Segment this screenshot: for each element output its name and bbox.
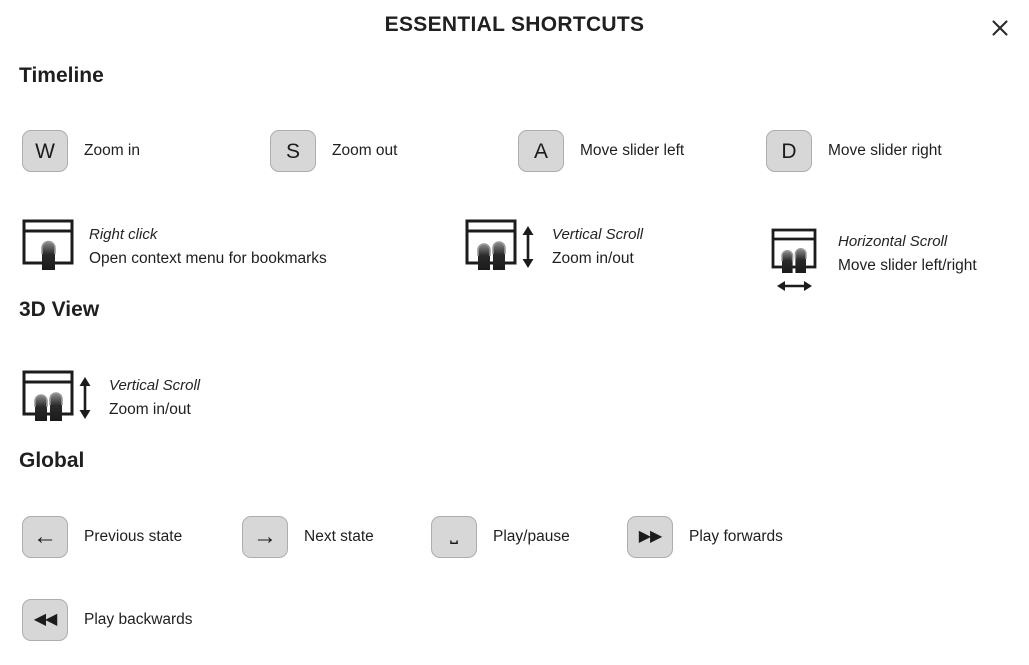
gesture-result: Open context menu for bookmarks [89,247,327,271]
key-w[interactable]: W [22,130,68,172]
space-bar-key[interactable]: ⎵ [431,516,477,558]
arrow-left-key[interactable]: ← [22,516,68,558]
key-s[interactable]: S [270,130,316,172]
gesture-labels: Vertical Scroll Zoom in/out [552,223,643,270]
arrow-right-icon: → [253,525,277,549]
gesture-row: Vertical Scroll Zoom in/out [21,369,200,427]
shortcut-label: Play forwards [689,528,783,546]
space-bar-icon: ⎵ [450,523,458,543]
gesture-labels: Right click Open context menu for bookma… [89,223,327,270]
page-title: ESSENTIAL SHORTCUTS [0,13,1029,37]
gesture-row: Right click Open context menu for bookma… [21,218,327,276]
shortcut-label: Zoom out [332,142,397,160]
gesture-action: Right click [89,223,327,246]
trackpad-vertical-scroll-icon [21,369,97,427]
close-icon[interactable] [985,13,1015,43]
gesture-action: Horizontal Scroll [838,230,977,253]
shortcut-row: → Next state [242,516,374,558]
shortcut-label: Move slider right [828,142,942,160]
gesture-action: Vertical Scroll [552,223,643,246]
arrow-right-key[interactable]: → [242,516,288,558]
trackpad-vertical-scroll-icon [464,218,540,276]
key-a[interactable]: A [518,130,564,172]
fast-forward-key[interactable]: ▶▶ [627,516,673,558]
rewind-key[interactable]: ◀◀ [22,599,68,641]
keycap-label: S [286,141,300,162]
gesture-labels: Horizontal Scroll Move slider left/right [838,230,977,277]
keycap-label: W [35,141,55,162]
gesture-result: Zoom in/out [552,247,643,271]
shortcut-label: Zoom in [84,142,140,160]
shortcut-label: Next state [304,528,374,546]
keycap-label: A [534,141,548,162]
shortcut-label: Previous state [84,528,182,546]
shortcut-row: D Move slider right [766,130,942,172]
gesture-action: Vertical Scroll [109,374,200,397]
dialog-header: ESSENTIAL SHORTCUTS [0,0,1029,56]
shortcut-row: ▶▶ Play forwards [627,516,783,558]
shortcut-row: ◀◀ Play backwards [22,599,193,641]
section-title-timeline: Timeline [19,64,104,88]
trackpad-right-click-icon [21,218,77,276]
gesture-result: Zoom in/out [109,398,200,422]
section-title-global: Global [19,449,84,473]
gesture-row: Vertical Scroll Zoom in/out [464,218,643,276]
key-d[interactable]: D [766,130,812,172]
shortcut-row: S Zoom out [270,130,397,172]
shortcut-row: A Move slider left [518,130,684,172]
gesture-labels: Vertical Scroll Zoom in/out [109,374,200,421]
gesture-result: Move slider left/right [838,254,977,278]
fast-forward-icon: ▶▶ [639,529,662,545]
trackpad-horizontal-scroll-icon [770,228,820,300]
shortcut-label: Move slider left [580,142,684,160]
section-title-3d-view: 3D View [19,298,99,322]
shortcut-row: ⎵ Play/pause [431,516,570,558]
arrow-left-icon: ← [33,525,57,549]
rewind-icon: ◀◀ [34,612,57,628]
shortcut-row: ← Previous state [22,516,182,558]
shortcut-label: Play/pause [493,528,570,546]
shortcut-label: Play backwards [84,611,193,629]
keycap-label: D [781,141,796,162]
gesture-row: Horizontal Scroll Move slider left/right [770,228,977,300]
shortcut-row: W Zoom in [22,130,140,172]
